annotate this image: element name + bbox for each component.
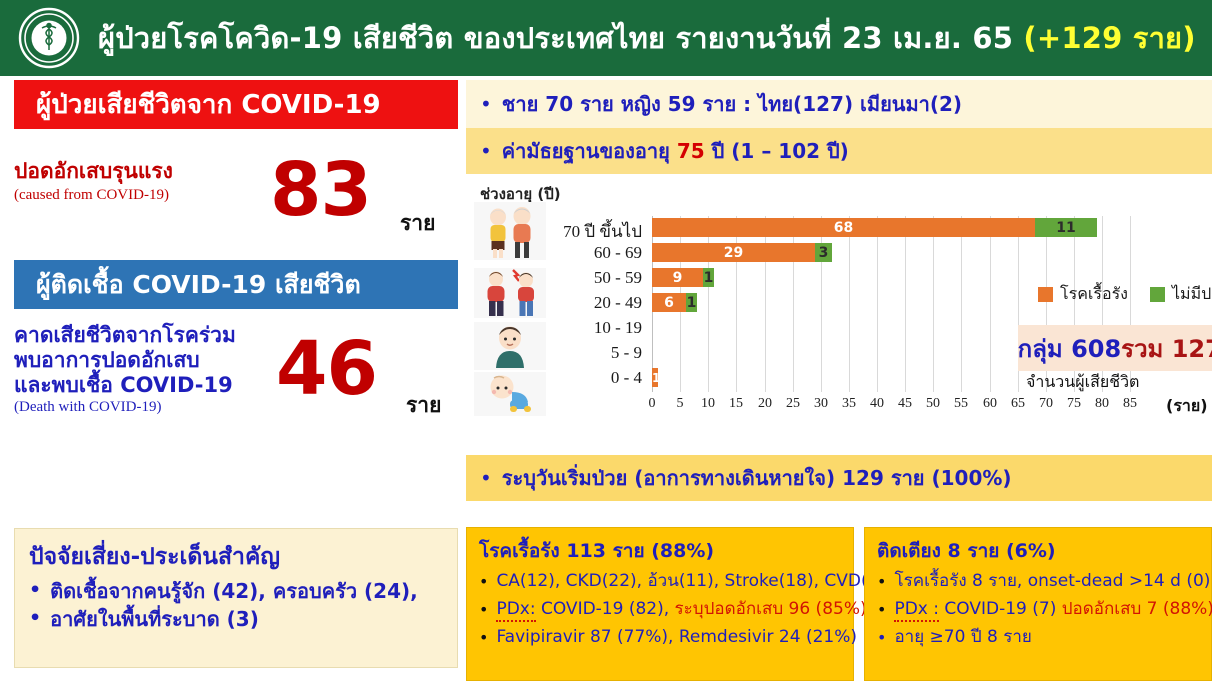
chart-x-unit-label: (ราย)	[1166, 394, 1208, 419]
legend-label: ไม่มีประวัติโรคเรื้องรัง	[1172, 282, 1212, 307]
chart-value-label: 1	[703, 271, 714, 285]
median-age-text: ค่ามัธยฐานของอายุ 75 ปี (1 – 102 ปี)	[502, 135, 849, 167]
chart-category-label: 60 - 69	[594, 243, 642, 263]
people-illustration-column	[474, 202, 548, 402]
left-column: ผู้ป่วยเสียชีวิตจาก COVID-19 ปอดอักเสบรุ…	[0, 80, 460, 681]
chart-bar-row: 20 - 49 6 1	[652, 293, 697, 312]
chart-category-label: 5 - 9	[611, 343, 642, 363]
x-tick: 50	[926, 396, 940, 412]
severe-pneumonia-unit: ราย	[400, 207, 435, 240]
bullet-icon: •	[480, 141, 492, 161]
pdx-label: PDx :	[894, 599, 939, 622]
bedbound-text: PDx : COVID-19 (7) ปอดอักเสบ 7 (88%)	[894, 598, 1212, 622]
chronic-disease-item: • PDx: COVID-19 (82), ระบุปอดอักเสบ 96 (…	[479, 598, 843, 622]
ministry-of-public-health-logo	[0, 0, 98, 76]
x-tick: 30	[814, 396, 828, 412]
gridline	[849, 216, 850, 392]
x-tick: 75	[1067, 396, 1081, 412]
right-column: • ชาย 70 ราย หญิง 59 ราย : ไทย(127) เมีย…	[466, 80, 1212, 681]
bullet-icon: •	[29, 605, 41, 632]
x-tick: 60	[983, 396, 997, 412]
child-illustration	[474, 322, 546, 370]
bullet-icon: •	[480, 94, 492, 114]
death-with-covid-unit: ราย	[406, 389, 441, 422]
risk-factor-text: ติดเชื้อจากคนรู้จัก (42), ครอบครัว (24),	[50, 577, 418, 605]
bedbound-item: • โรคเรื้อรัง 8 ราย, onset-dead >14 d (0…	[877, 570, 1201, 594]
infographic-page: ผู้ป่วยโรคโควิด-19 เสียชีวิต ของประเทศไท…	[0, 0, 1212, 681]
baby-illustration	[474, 372, 546, 416]
gridline	[990, 216, 991, 392]
x-tick: 40	[870, 396, 884, 412]
age-group-chart: ช่วงอายุ (ปี)	[466, 174, 1212, 455]
median-age-suffix: ปี (1 – 102 ปี)	[705, 139, 849, 163]
x-tick: 80	[1095, 396, 1109, 412]
chronic-disease-item: • CA(12), CKD(22), อ้วน(11), Stroke(18),…	[479, 570, 843, 594]
page-title-highlight: (+129 ราย)	[1023, 21, 1195, 55]
median-age-row: • ค่ามัธยฐานของอายุ 75 ปี (1 – 102 ปี)	[466, 128, 1212, 174]
pdx-plain: COVID-19 (82),	[536, 599, 675, 619]
group-608-annotation: กลุ่ม 608 รวม 127 ราย (98%)	[1018, 325, 1212, 371]
chart-value-label: 29	[652, 246, 815, 260]
bullet-icon: •	[877, 598, 886, 621]
chronic-disease-text: Favipiravir 87 (77%), Remdesivir 24 (21%…	[496, 626, 857, 650]
x-tick: 55	[954, 396, 968, 412]
chart-value-label: 9	[652, 271, 703, 285]
x-tick: 70	[1039, 396, 1053, 412]
death-with-covid-line3: และพบเชื้อ COVID-19	[14, 373, 458, 398]
pdx-highlight: ระบุปอดอักเสบ 96 (85%)	[675, 599, 867, 619]
x-tick: 15	[729, 396, 743, 412]
bedbound-item: • อายุ ≥70 ปี 8 ราย	[877, 626, 1201, 650]
x-tick: 20	[758, 396, 772, 412]
bedbound-title: ติดเตียง 8 ราย (6%)	[877, 536, 1201, 566]
death-with-covid-value: 46	[276, 337, 377, 402]
legend-item-chronic: โรคเรื้อรัง	[1038, 282, 1128, 307]
risk-factor-text: อาศัยในพื้นที่ระบาด (3)	[50, 605, 259, 633]
chart-category-label: 0 - 4	[611, 368, 642, 388]
x-tick: 10	[701, 396, 715, 412]
legend-swatch-icon	[1150, 287, 1165, 302]
chart-category-label: 10 - 19	[594, 318, 642, 338]
adults-illustration	[474, 268, 546, 318]
annotation-total-label: รวม 127 ราย (98%)	[1121, 329, 1212, 368]
chronic-disease-item: • Favipiravir 87 (77%), Remdesivir 24 (2…	[479, 626, 843, 650]
gridline	[905, 216, 906, 392]
risk-factor-item: • อาศัยในพื้นที่ระบาด (3)	[29, 605, 445, 633]
annotation-group-label: กลุ่ม 608	[1018, 329, 1122, 368]
chart-plot-area: 70 ปี ขึ้นไป 68 11 60 - 69 29 3	[652, 216, 1147, 392]
chart-segment-no-chronic: 1	[703, 268, 714, 287]
pdx-highlight: ปอดอักเสบ 7 (88%)	[1062, 599, 1212, 619]
pdx-label: PDx:	[496, 599, 535, 622]
chart-bar-row: 0 - 4 1	[652, 368, 658, 387]
chart-value-label: 1	[652, 372, 658, 384]
death-with-covid-line1: คาดเสียชีวิตจากโรคร่วม	[14, 323, 458, 348]
severe-pneumonia-label: ปอดอักเสบรุนแรง	[14, 145, 458, 184]
pdx-plain: COVID-19 (7)	[939, 599, 1062, 619]
chart-x-axis-caption: จำนวนผู้เสียชีวิต	[1026, 370, 1139, 395]
page-title-text: ผู้ป่วยโรคโควิด-19 เสียชีวิต ของประเทศไท…	[98, 21, 1013, 55]
page-title: ผู้ป่วยโรคโควิด-19 เสียชีวิต ของประเทศไท…	[98, 23, 1196, 53]
gridline	[961, 216, 962, 392]
severe-pneumonia-sublabel: (caused from COVID-19)	[14, 187, 458, 204]
severe-pneumonia-value: 83	[270, 158, 371, 223]
chart-segment-no-chronic: 3	[815, 243, 832, 262]
chart-segment-chronic: 29	[652, 243, 815, 262]
gender-nationality-text: ชาย 70 ราย หญิง 59 ราย : ไทย(127) เมียนม…	[502, 88, 962, 120]
death-with-covid-line2: พบอาการปอดอักเสบ	[14, 348, 458, 373]
bullet-icon: •	[877, 570, 886, 593]
chart-bar-row: 70 ปี ขึ้นไป 68 11	[652, 218, 1097, 237]
bedbound-text: โรคเรื้อรัง 8 ราย, onset-dead >14 d (0)	[894, 570, 1210, 594]
bedbound-text: อายุ ≥70 ปี 8 ราย	[894, 626, 1031, 650]
chart-category-label: 70 ปี ขึ้นไป	[563, 218, 642, 245]
chart-segment-chronic: 6	[652, 293, 686, 312]
x-tick: 85	[1123, 396, 1137, 412]
page-header: ผู้ป่วยโรคโควิด-19 เสียชีวิต ของประเทศไท…	[0, 0, 1212, 76]
risk-factors-panel: ปัจจัยเสี่ยง-ประเด็นสำคัญ • ติดเชื้อจากค…	[14, 528, 458, 668]
onset-date-row: • ระบุวันเริ่มป่วย (อาการทางเดินหายใจ) 1…	[466, 455, 1212, 501]
gridline	[877, 216, 878, 392]
chart-value-label: 68	[652, 221, 1035, 235]
risk-factors-title: ปัจจัยเสี่ยง-ประเด็นสำคัญ	[29, 539, 445, 575]
chart-value-label: 3	[815, 246, 832, 260]
chronic-disease-title: โรคเรื้อรัง 113 ราย (88%)	[479, 536, 843, 566]
chart-legend: โรคเรื้อรัง ไม่มีประวัติโรคเรื้องรัง	[1038, 282, 1212, 307]
death-with-covid-sublabel: (Death with COVID-19)	[14, 399, 458, 416]
legend-label: โรคเรื้อรัง	[1060, 282, 1128, 307]
chart-bar-row: 50 - 59 9 1	[652, 268, 714, 287]
gender-nationality-row: • ชาย 70 ราย หญิง 59 ราย : ไทย(127) เมีย…	[466, 80, 1212, 128]
bullet-icon: •	[877, 626, 886, 649]
chart-bar-row: 60 - 69 29 3	[652, 243, 832, 262]
risk-factor-item: • ติดเชื้อจากคนรู้จัก (42), ครอบครัว (24…	[29, 577, 445, 605]
x-tick: 25	[786, 396, 800, 412]
x-tick: 5	[677, 396, 684, 412]
x-tick: 45	[898, 396, 912, 412]
chronic-disease-text: PDx: COVID-19 (82), ระบุปอดอักเสบ 96 (85…	[496, 598, 866, 622]
chart-x-ticks: 0 5 10 15 20 25 30 35 40 45 50 55 60 65 …	[652, 396, 1172, 418]
chart-segment-chronic: 68	[652, 218, 1035, 237]
bullet-icon: •	[479, 598, 488, 621]
chart-segment-chronic: 9	[652, 268, 703, 287]
median-age-value: 75	[677, 139, 705, 163]
chart-segment-no-chronic: 11	[1035, 218, 1097, 237]
legend-item-no-chronic: ไม่มีประวัติโรคเรื้องรัง	[1150, 282, 1212, 307]
bullet-icon: •	[29, 577, 41, 604]
x-tick: 35	[842, 396, 856, 412]
bedbound-item: • PDx : COVID-19 (7) ปอดอักเสบ 7 (88%)	[877, 598, 1201, 622]
median-age-prefix: ค่ามัธยฐานของอายุ	[502, 139, 677, 163]
chart-category-label: 50 - 59	[594, 268, 642, 288]
chart-segment-no-chronic: 1	[686, 293, 697, 312]
chart-value-label: 6	[652, 296, 686, 310]
bullet-icon: •	[479, 626, 488, 649]
gridline	[933, 216, 934, 392]
severe-pneumonia-stat: ปอดอักเสบรุนแรง (caused from COVID-19) 8…	[14, 145, 458, 260]
chronic-disease-box: โรคเรื้อรัง 113 ราย (88%) • CA(12), CKD(…	[466, 527, 854, 681]
bedbound-box: ติดเตียง 8 ราย (6%) • โรคเรื้อรัง 8 ราย,…	[864, 527, 1212, 681]
chart-value-label: 1	[686, 296, 697, 310]
x-tick: 0	[649, 396, 656, 412]
chart-category-label: 20 - 49	[594, 293, 642, 313]
bottom-detail-boxes: โรคเรื้อรัง 113 ราย (88%) • CA(12), CKD(…	[466, 527, 1212, 681]
elderly-couple-illustration	[474, 202, 546, 260]
death-with-covid-stat: คาดเสียชีวิตจากโรคร่วม พบอาการปอดอักเสบ …	[14, 323, 458, 443]
chart-value-label: 11	[1035, 221, 1097, 235]
legend-swatch-icon	[1038, 287, 1053, 302]
death-from-covid-banner: ผู้ป่วยเสียชีวิตจาก COVID-19	[14, 80, 458, 129]
died-with-covid-banner: ผู้ติดเชื้อ COVID-19 เสียชีวิต	[14, 260, 458, 309]
onset-date-text: ระบุวันเริ่มป่วย (อาการทางเดินหายใจ) 129…	[502, 462, 1012, 494]
bullet-icon: •	[479, 570, 488, 593]
chart-segment-chronic: 1	[652, 368, 658, 387]
bullet-icon: •	[480, 468, 492, 488]
chronic-disease-text: CA(12), CKD(22), อ้วน(11), Stroke(18), C…	[496, 570, 895, 594]
x-tick: 65	[1011, 396, 1025, 412]
